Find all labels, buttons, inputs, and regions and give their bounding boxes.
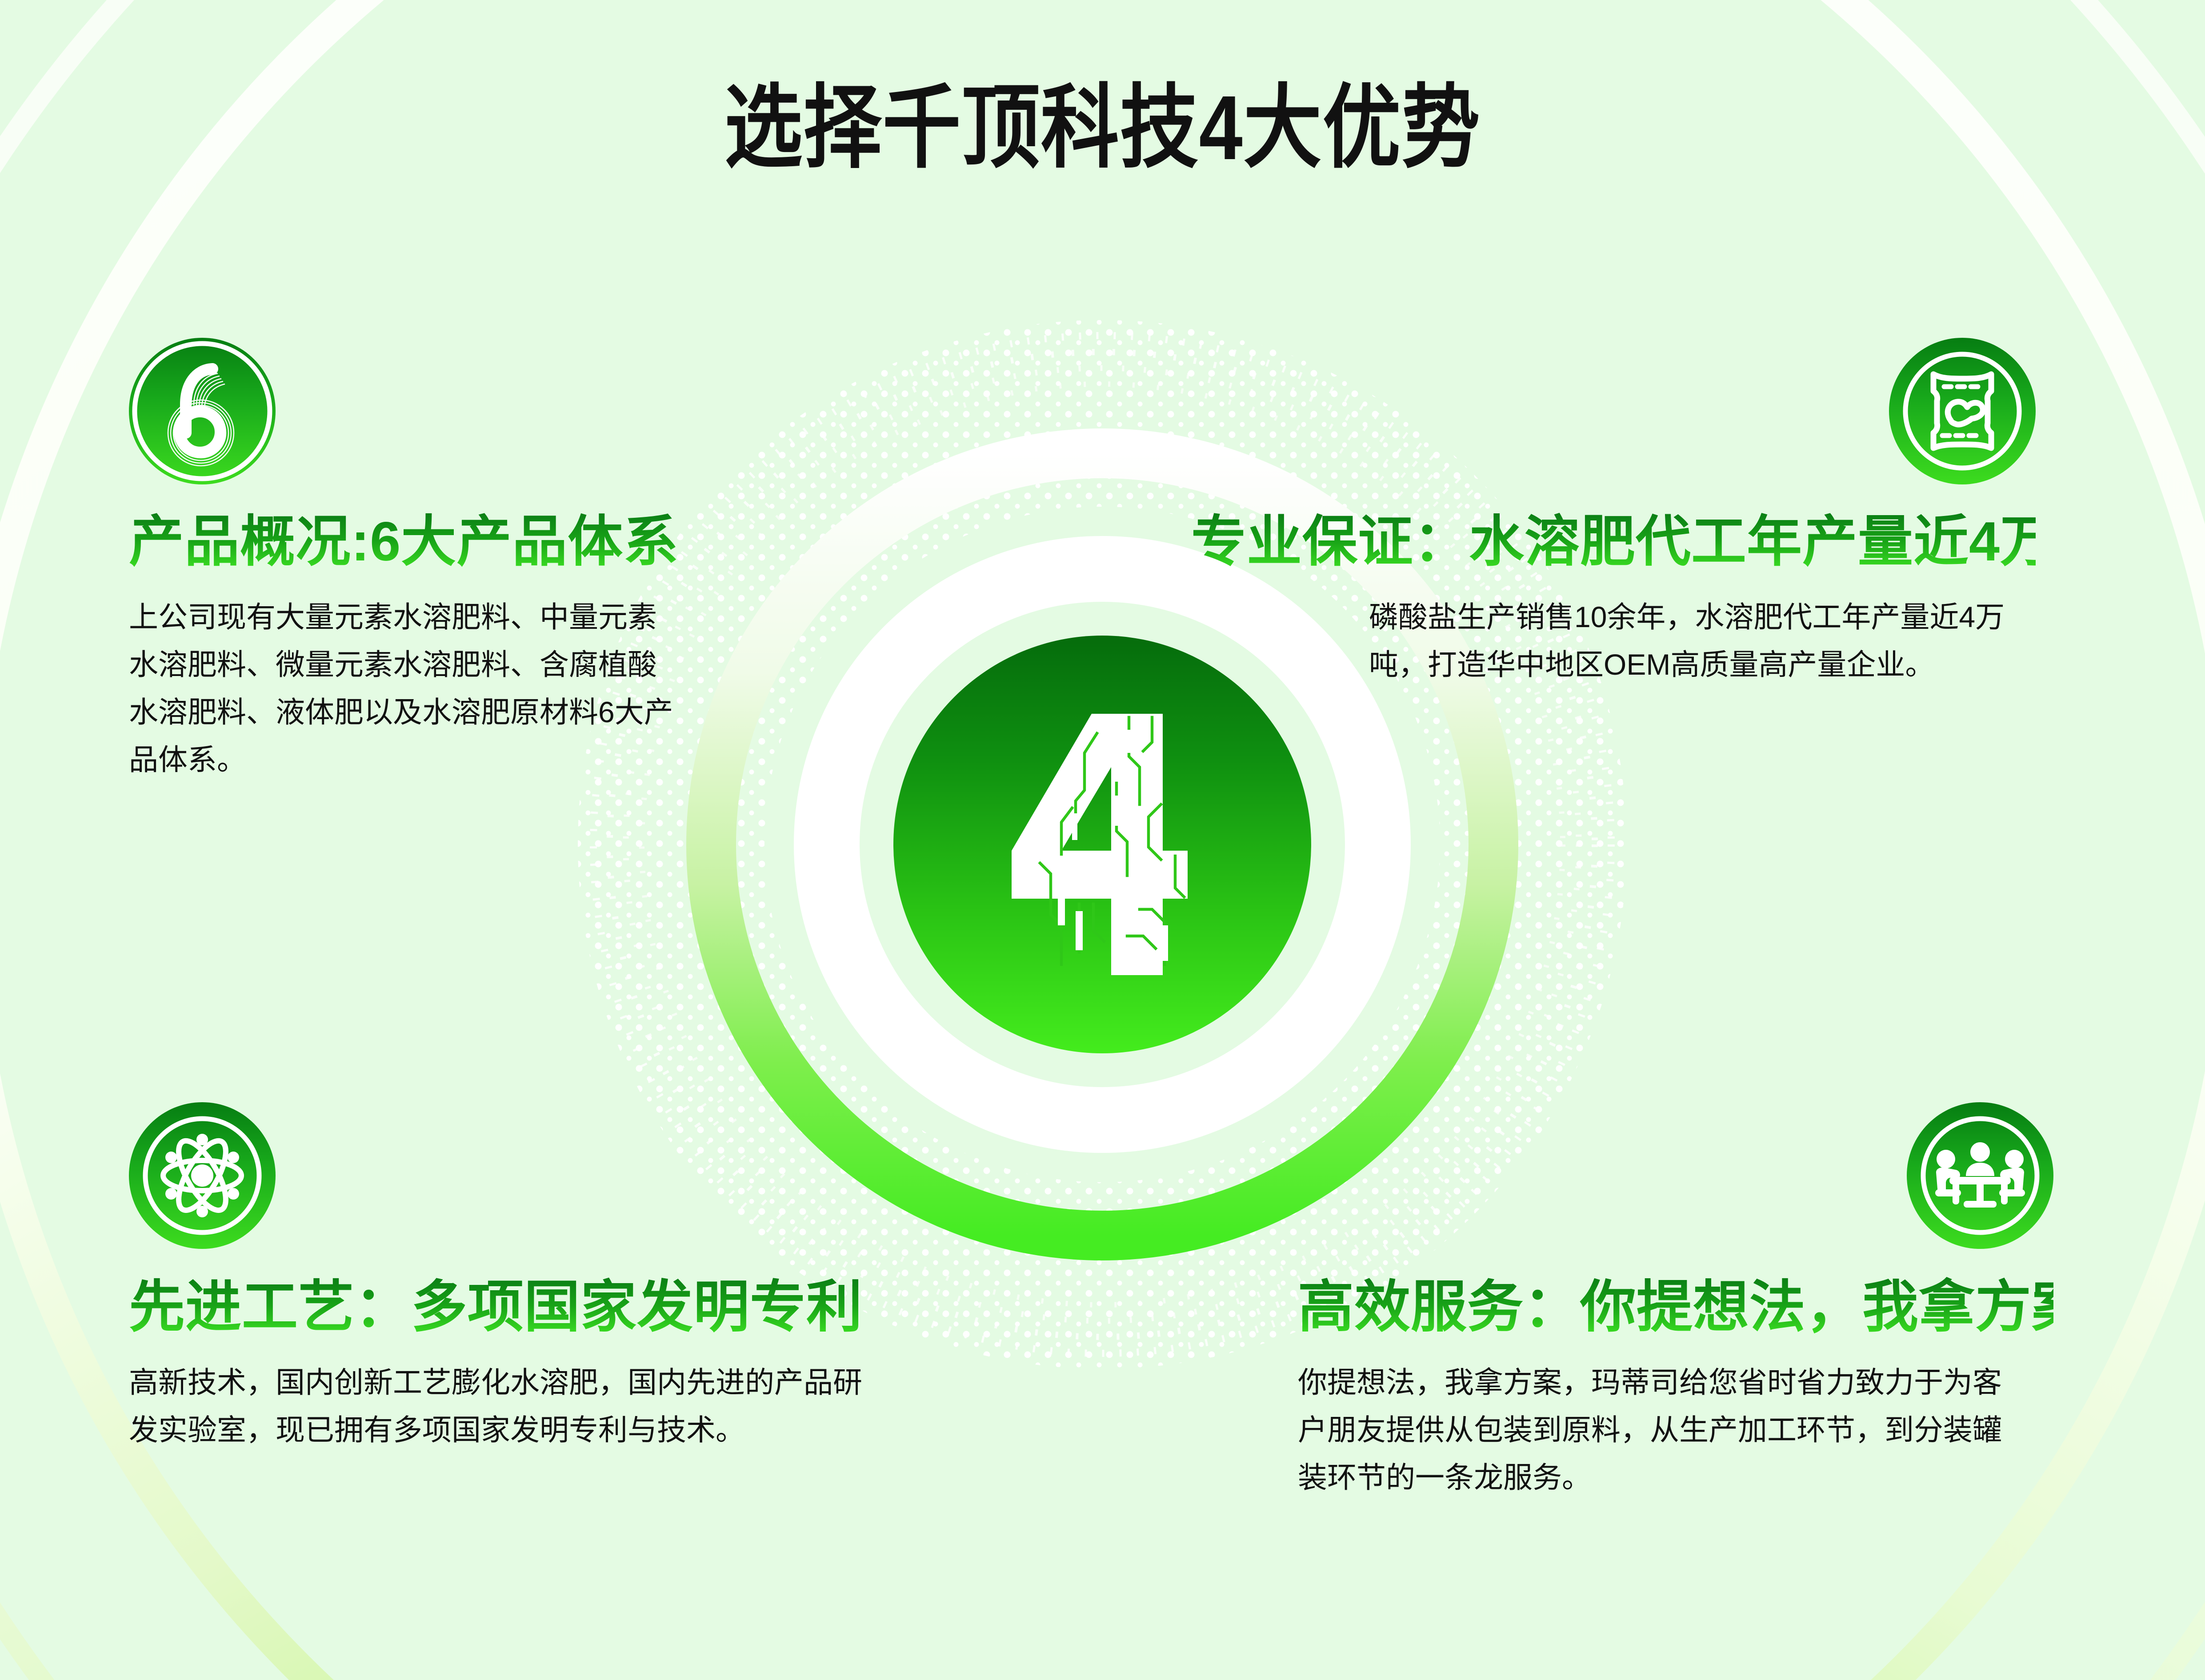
infographic-canvas: 选择千顶科技4大优势: [0, 0, 2205, 1680]
advantage-card-advanced-process: 先进工艺：多项国家发明专利 高新技术，国内创新工艺膨化水溶肥，国内先进的产品研发…: [129, 1102, 902, 1454]
advantage-body: 你提想法，我拿方案，玛蒂司给您省时省力致力于为客户朋友提供从包装到原料，从生产加…: [1298, 1359, 2018, 1501]
advantage-card-efficient-service: 高效服务：你提想法，我拿方案 你提想法，我拿方案，玛蒂司给您省时省力致力于为客户…: [1298, 1102, 2053, 1501]
center-medallion: [893, 636, 1311, 1053]
icon-container: [1191, 338, 2036, 484]
advantage-body: 高新技术，国内创新工艺膨化水溶肥，国内先进的产品研发实验室，现已拥有多项国家发明…: [129, 1359, 884, 1454]
icon-container: [1298, 1102, 2053, 1249]
atom-icon: [129, 1102, 276, 1249]
fertilizer-bag-icon: [1889, 338, 2036, 484]
page-title: 选择千顶科技4大优势: [154, 80, 2050, 176]
advantage-heading: 先进工艺：多项国家发明专利: [129, 1276, 902, 1338]
advantage-card-product-overview: 产品概况:6大产品体系 上公司现有大量元素水溶肥料、中量元素水溶肥料、微量元素水…: [129, 338, 707, 784]
advantage-heading: 高效服务：你提想法，我拿方案: [1298, 1276, 2053, 1338]
advantage-body: 磷酸盐生产销售10余年，水溶肥代工年产量近4万吨，打造华中地区OEM高质量高产量…: [1369, 593, 2036, 688]
meeting-table-icon: [1907, 1102, 2053, 1249]
center-number-4-icon: [893, 636, 1311, 1053]
number-six-rings-icon: [129, 338, 276, 484]
advantage-heading: 专业保证：水溶肥代工年产量近4万吨: [1191, 511, 2036, 573]
advantage-body: 上公司现有大量元素水溶肥料、中量元素水溶肥料、微量元素水溶肥料、含腐植酸水溶肥料…: [129, 593, 680, 784]
advantage-card-professional-guarantee: 专业保证：水溶肥代工年产量近4万吨 磷酸盐生产销售10余年，水溶肥代工年产量近4…: [1191, 338, 2036, 688]
icon-container: [129, 338, 707, 484]
advantage-heading: 产品概况:6大产品体系: [129, 511, 707, 573]
icon-container: [129, 1102, 902, 1249]
